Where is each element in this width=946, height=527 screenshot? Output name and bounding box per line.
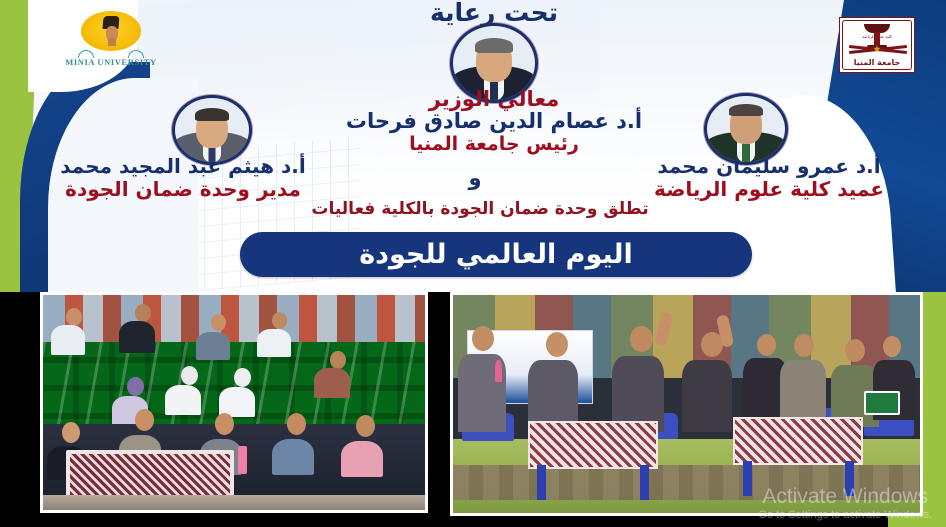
audience-vip-head <box>135 409 154 431</box>
audience-person-head <box>127 377 144 396</box>
ceremony-person-head <box>757 334 776 356</box>
ceremony-person-head <box>794 334 814 357</box>
qa-hair-shape <box>195 108 229 121</box>
ceremony-table-leg <box>845 461 854 496</box>
audience-person-body <box>257 329 291 357</box>
audience-person-body <box>196 332 230 360</box>
audience-person-body <box>165 385 201 415</box>
minister-title: معالي الوزير <box>318 88 670 110</box>
audience-person-body <box>119 321 155 353</box>
event-title-text: اليوم العالمي للجودة <box>359 239 633 270</box>
audience-vip-head <box>215 413 234 435</box>
audience-person-body <box>314 368 350 398</box>
faculty-emblem-frame: كلية علوم الرياضة جامعة المنيا <box>842 20 912 70</box>
photo-ceremony <box>450 292 923 516</box>
nefertiti-head-shape <box>102 16 120 46</box>
conjunction-label: و <box>455 166 495 190</box>
audience-table-cloth <box>66 450 234 499</box>
photo-strip: Activate Windows Go to Settings to activ… <box>0 292 946 527</box>
poster-screenshot: MINIA UNIVERSITY كلية علوم الرياضة جامعة… <box>0 0 946 527</box>
dean-role: عميد كلية علوم الرياضة <box>604 178 934 201</box>
audience-vip-tie <box>238 446 247 474</box>
audience-person-head <box>66 308 82 326</box>
ceremony-table-left <box>528 421 658 469</box>
ceremony-person-head <box>472 326 494 351</box>
nefertiti-neck-shape <box>108 38 116 46</box>
audience-person-head <box>330 351 346 369</box>
ceremony-green-sign <box>864 391 900 415</box>
ceremony-person-head <box>630 326 653 352</box>
minia-university-name: MINIA UNIVERSITY <box>65 57 157 67</box>
nefertiti-icon <box>81 11 141 51</box>
audience-vip-body <box>341 441 383 477</box>
minia-university-logo: MINIA UNIVERSITY <box>62 4 160 74</box>
minister-text-block: معالي الوزير أ.د عصام الدين صادق فرحات ر… <box>318 88 670 155</box>
faculty-emblem-name: جامعة المنيا <box>853 58 902 67</box>
faculty-emblem-logo: كلية علوم الرياضة جامعة المنيا <box>839 17 915 73</box>
dean-name: أ.د عمرو سليمان محمد <box>604 155 934 178</box>
qa-manager-name: أ.د هيثم عبد المجيد محمد <box>8 155 358 178</box>
event-title-banner: اليوم العالمي للجودة <box>240 232 752 277</box>
ceremony-person-body <box>682 360 732 432</box>
audience-person-head <box>135 304 151 322</box>
minister-role: رئيس جامعة المنيا <box>318 134 670 155</box>
photo-audience <box>40 292 428 513</box>
qa-manager-role: مدير وحدة ضمان الجودة <box>8 178 358 201</box>
minister-name: أ.د عصام الدين صادق فرحات <box>318 110 670 134</box>
ceremony-table-leg <box>743 461 752 496</box>
ceremony-person-head <box>883 336 901 357</box>
ceremony-table-right <box>733 417 863 465</box>
audience-vip-body <box>272 439 314 475</box>
qa-manager-text-block: أ.د هيثم عبد المجيد محمد مدير وحدة ضمان … <box>8 155 358 201</box>
audience-person-body <box>51 325 85 355</box>
audience-vip-head <box>62 422 80 443</box>
dean-hair-shape <box>729 104 763 116</box>
launch-line: تطلق وحدة ضمان الجودة بالكلية فعاليات <box>180 199 780 219</box>
minister-hair-shape <box>475 38 513 53</box>
audience-person-head <box>181 366 198 385</box>
audience-person-head <box>234 368 251 387</box>
ceremony-person-head <box>845 339 865 362</box>
ceremony-person-tie <box>495 360 502 382</box>
dean-text-block: أ.د عمرو سليمان محمد عميد كلية علوم الري… <box>604 155 934 201</box>
ceremony-table-leg <box>537 465 546 500</box>
faculty-emblem-top-text: كلية علوم الرياضة <box>862 34 892 39</box>
ceremony-table-leg <box>640 465 649 500</box>
poster-panel: MINIA UNIVERSITY كلية علوم الرياضة جامعة… <box>0 0 946 292</box>
audience-barrier-ledge <box>43 495 425 510</box>
